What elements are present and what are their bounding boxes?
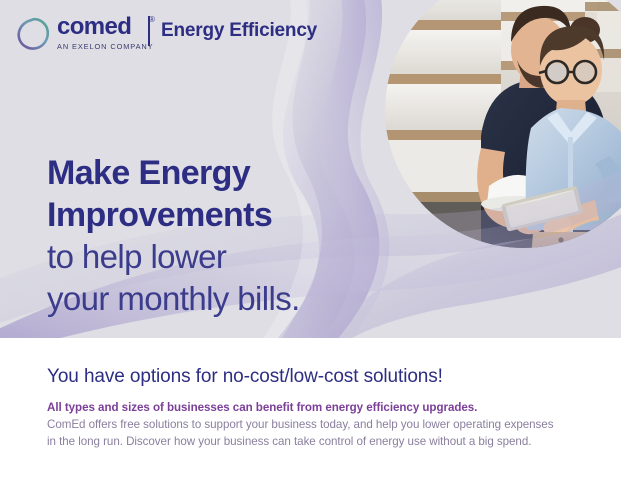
program-name: Energy Efficiency — [161, 20, 317, 42]
marketing-flyer-page: comed ® AN EXELON COMPANY Energy Efficie… — [0, 0, 621, 486]
sub-headline: You have options for no-cost/low-cost so… — [47, 366, 443, 388]
comed-pentagon-ring-logo-icon — [16, 17, 50, 51]
hero-section: comed ® AN EXELON COMPANY Energy Efficie… — [0, 0, 621, 338]
comed-wordmark: comed ® — [57, 14, 169, 38]
comed-logo-lockup[interactable]: comed ® AN EXELON COMPANY — [16, 14, 169, 51]
brand-divider — [148, 16, 150, 46]
svg-text:comed: comed — [57, 14, 131, 39]
comed-wordmark-column: comed ® AN EXELON COMPANY — [57, 14, 169, 51]
body-section: You have options for no-cost/low-cost so… — [0, 338, 621, 486]
comed-wordmark-text: comed ® — [57, 14, 169, 39]
hero-headline: Make Energy Improvements to help lower y… — [47, 152, 377, 320]
copy-paragraph: ComEd offers free solutions to support y… — [47, 416, 557, 450]
headline-line-3: to help lower — [47, 236, 377, 278]
headline-line-1: Make Energy — [47, 152, 377, 194]
copy-lead-sentence: All types and sizes of businesses can be… — [47, 399, 557, 416]
copy-block: All types and sizes of businesses can be… — [47, 399, 557, 450]
brand-bar: comed ® AN EXELON COMPANY Energy Efficie… — [0, 0, 621, 72]
headline-line-2: Improvements — [47, 194, 377, 236]
exelon-company-line: AN EXELON COMPANY — [57, 42, 169, 51]
headline-line-4: your monthly bills. — [47, 278, 377, 320]
